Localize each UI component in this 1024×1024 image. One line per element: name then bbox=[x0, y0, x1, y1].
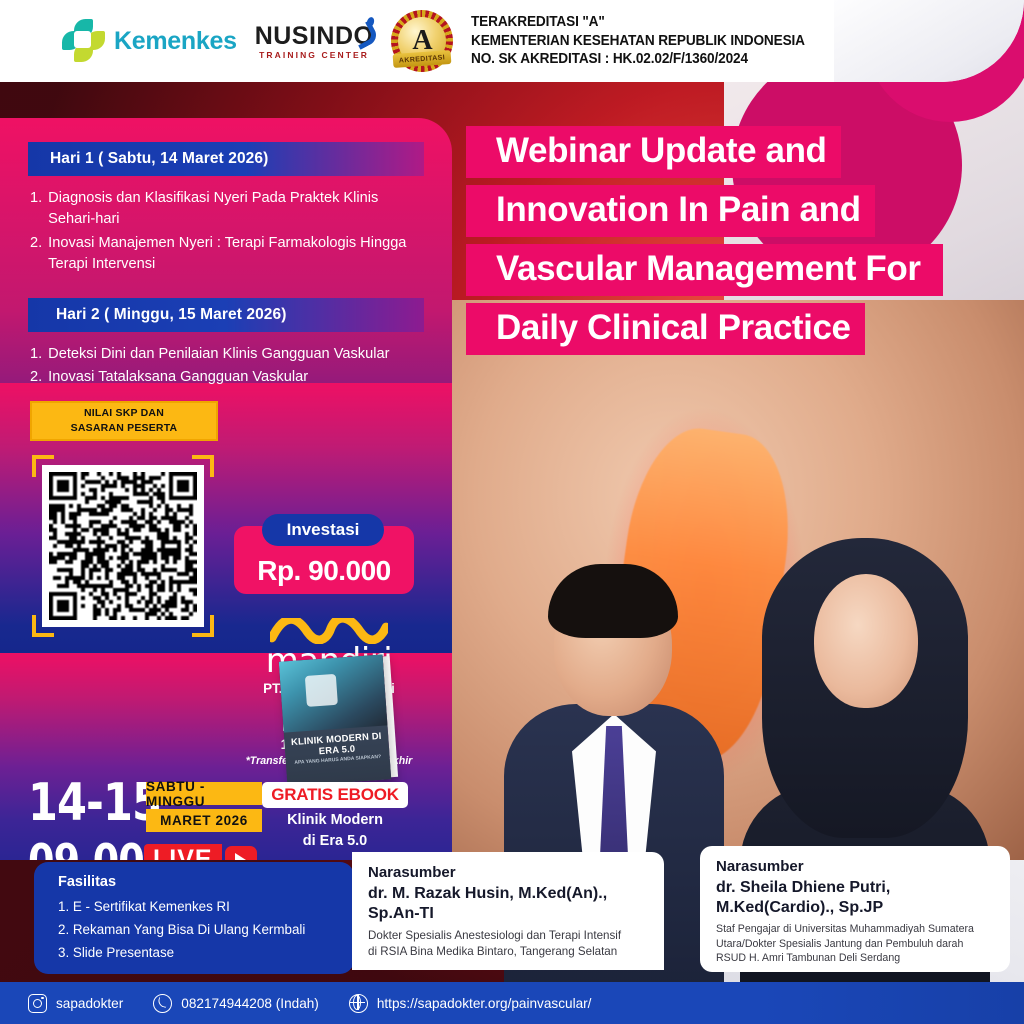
footer-whatsapp[interactable]: 082174944208 (Indah) bbox=[153, 994, 319, 1013]
agenda-item-number: 1. bbox=[30, 344, 42, 365]
list-item: 1. Deteksi Dini dan Penilaian Klinis Gan… bbox=[30, 344, 422, 365]
ebook-title-caption: Klinik Modern di Era 5.0 bbox=[258, 810, 412, 851]
list-item: 2. Inovasi Tatalaksana Gangguan Vaskular bbox=[30, 367, 422, 388]
speaker-2-desc-line-1: Staf Pengajar di Universitas Muhammadiya… bbox=[716, 923, 974, 935]
speaker-2-desc-line-2: Utara/Dokter Spesialis Jantung dan Pembu… bbox=[716, 938, 963, 950]
agenda-item-number: 2. bbox=[30, 233, 42, 276]
agenda-item-text: Deteksi Dini dan Penilaian Klinis Ganggu… bbox=[48, 344, 422, 365]
agenda-item-text: Inovasi Manajemen Nyeri : Terapi Farmako… bbox=[48, 233, 422, 276]
speaker-2-desc-line-3: RSUD H. Amri Tambunan Deli Serdang bbox=[716, 952, 900, 964]
qr-code-image[interactable] bbox=[42, 465, 204, 627]
speaker-1-desc-line-1: Dokter Spesialis Anestesiologi dan Terap… bbox=[368, 929, 621, 942]
agenda-day2-list: 1. Deteksi Dini dan Penilaian Klinis Gan… bbox=[30, 344, 422, 389]
event-time: 09.00 bbox=[28, 837, 161, 860]
speaker-1-name: dr. M. Razak Husin, M.Ked(An)., Sp.An-TI bbox=[368, 884, 648, 925]
list-item: 2. Rekaman Yang Bisa Di Ulang Kermbali bbox=[58, 918, 354, 941]
kemenkes-logo: Kemenkes bbox=[62, 19, 237, 63]
skp-line-1: NILAI SKP DAN bbox=[84, 406, 164, 421]
footer-whatsapp-number: 082174944208 (Indah) bbox=[181, 996, 319, 1011]
seal-band-label: AKREDITASI bbox=[393, 50, 452, 68]
footer-website-url: https://sapadokter.org/painvascular/ bbox=[377, 996, 592, 1011]
speaker-1-card: Narasumber dr. M. Razak Husin, M.Ked(An)… bbox=[352, 852, 664, 970]
speaker-2-card: Narasumber dr. Sheila Dhiene Putri, M.Ke… bbox=[700, 846, 1010, 972]
title-block: Webinar Update and Innovation In Pain an… bbox=[466, 126, 943, 362]
kemenkes-mark-icon bbox=[62, 19, 106, 63]
live-stream-block: LIVE STREAM Zoom Youtube bbox=[144, 844, 275, 860]
nusindo-sublabel: TRAINING CENTER bbox=[255, 50, 374, 60]
speaker-1-role: Narasumber bbox=[368, 863, 648, 883]
agenda-item-number: 1. bbox=[30, 188, 42, 231]
instagram-icon bbox=[28, 994, 47, 1013]
ebook-cover: KLINIK MODERN DI ERA 5.0 APA YANG HARUS … bbox=[279, 655, 391, 787]
nusindo-dot-icon bbox=[366, 16, 376, 28]
agenda-item-text: Inovasi Tatalaksana Gangguan Vaskular bbox=[48, 367, 422, 388]
speaker-2-desc: Staf Pengajar di Universitas Muhammadiya… bbox=[716, 922, 994, 965]
title-line-1: Webinar Update and bbox=[466, 126, 841, 178]
globe-icon bbox=[349, 994, 368, 1013]
skp-line-2: SASARAN PESERTA bbox=[71, 421, 178, 436]
gratis-ebook-badge: GRATIS EBOOK bbox=[262, 782, 408, 808]
ebook-caption-line-1: Klinik Modern bbox=[287, 812, 383, 828]
speaker-1-desc-line-2: di RSIA Bina Medika Bintaro, Tangerang S… bbox=[368, 945, 617, 958]
skp-info-box: NILAI SKP DAN SASARAN PESERTA bbox=[30, 401, 218, 441]
play-icon bbox=[225, 846, 257, 861]
facilities-box: Fasilitas 1. E - Sertifikat Kemenkes RI … bbox=[34, 862, 354, 974]
footer-bar: sapadokter 082174944208 (Indah) https://… bbox=[0, 982, 1024, 1024]
footer-website[interactable]: https://sapadokter.org/painvascular/ bbox=[349, 994, 592, 1013]
day-pill: SABTU - MINGGU bbox=[146, 782, 262, 805]
speaker-1-desc: Dokter Spesialis Anestesiologi dan Terap… bbox=[368, 928, 648, 960]
speaker-2-role: Narasumber bbox=[716, 857, 994, 877]
speaker-2-name: dr. Sheila Dhiene Putri, M.Ked(Cardio).,… bbox=[716, 878, 994, 919]
month-pill: MARET 2026 bbox=[146, 809, 262, 832]
facilities-heading: Fasilitas bbox=[58, 874, 354, 890]
whatsapp-icon bbox=[153, 994, 172, 1013]
accreditation-line-2: KEMENTERIAN KESEHATAN REPUBLIK INDONESIA bbox=[471, 32, 805, 51]
accreditation-text: TERAKREDITASI "A" KEMENTERIAN KESEHATAN … bbox=[471, 13, 826, 70]
title-line-4: Daily Clinical Practice bbox=[466, 303, 865, 355]
poster: Kemenkes NUSINDO TRAINING CENTER A AKRED… bbox=[0, 0, 1024, 1024]
qr-code-block[interactable] bbox=[32, 455, 214, 637]
title-line-3: Vascular Management For bbox=[466, 244, 943, 296]
list-item: 2. Inovasi Manajemen Nyeri : Terapi Farm… bbox=[30, 233, 422, 276]
list-item: 3. Slide Presentase bbox=[58, 941, 354, 964]
price-value: Rp. 90.000 bbox=[257, 555, 391, 587]
list-item: 1. E - Sertifikat Kemenkes RI bbox=[58, 895, 354, 918]
header-bar: Kemenkes NUSINDO TRAINING CENTER A AKRED… bbox=[0, 0, 1024, 82]
footer-instagram-handle: sapadokter bbox=[56, 996, 123, 1011]
agenda-item-number: 2. bbox=[30, 367, 42, 388]
live-label: LIVE bbox=[144, 844, 222, 860]
title-line-2: Innovation In Pain and bbox=[466, 185, 875, 237]
kemenkes-label: Kemenkes bbox=[114, 27, 237, 56]
investasi-badge: Investasi bbox=[262, 514, 384, 546]
agenda-day2-header: Hari 2 ( Minggu, 15 Maret 2026) bbox=[28, 298, 424, 332]
event-dates: 14-15 bbox=[28, 778, 161, 829]
facilities-list: 1. E - Sertifikat Kemenkes RI 2. Rekaman… bbox=[58, 895, 354, 964]
ebook-caption-line-2: di Era 5.0 bbox=[303, 833, 367, 849]
nusindo-logo: NUSINDO TRAINING CENTER bbox=[255, 22, 374, 60]
list-item: 1. Diagnosis dan Klasifikasi Nyeri Pada … bbox=[30, 188, 422, 231]
agenda-day1-list: 1. Diagnosis dan Klasifikasi Nyeri Pada … bbox=[30, 188, 422, 276]
accreditation-line-1: TERAKREDITASI "A" bbox=[471, 13, 805, 32]
accreditation-line-3: NO. SK AKREDITASI : HK.02.02/F/1360/2024 bbox=[471, 50, 805, 69]
accreditation-seal-icon: A AKREDITASI bbox=[391, 10, 453, 72]
ebook-cover-photo bbox=[279, 655, 388, 733]
agenda-item-text: Diagnosis dan Klasifikasi Nyeri Pada Pra… bbox=[48, 188, 422, 231]
agenda-day1-header: Hari 1 ( Sabtu, 14 Maret 2026) bbox=[28, 142, 424, 176]
footer-instagram[interactable]: sapadokter bbox=[28, 994, 123, 1013]
